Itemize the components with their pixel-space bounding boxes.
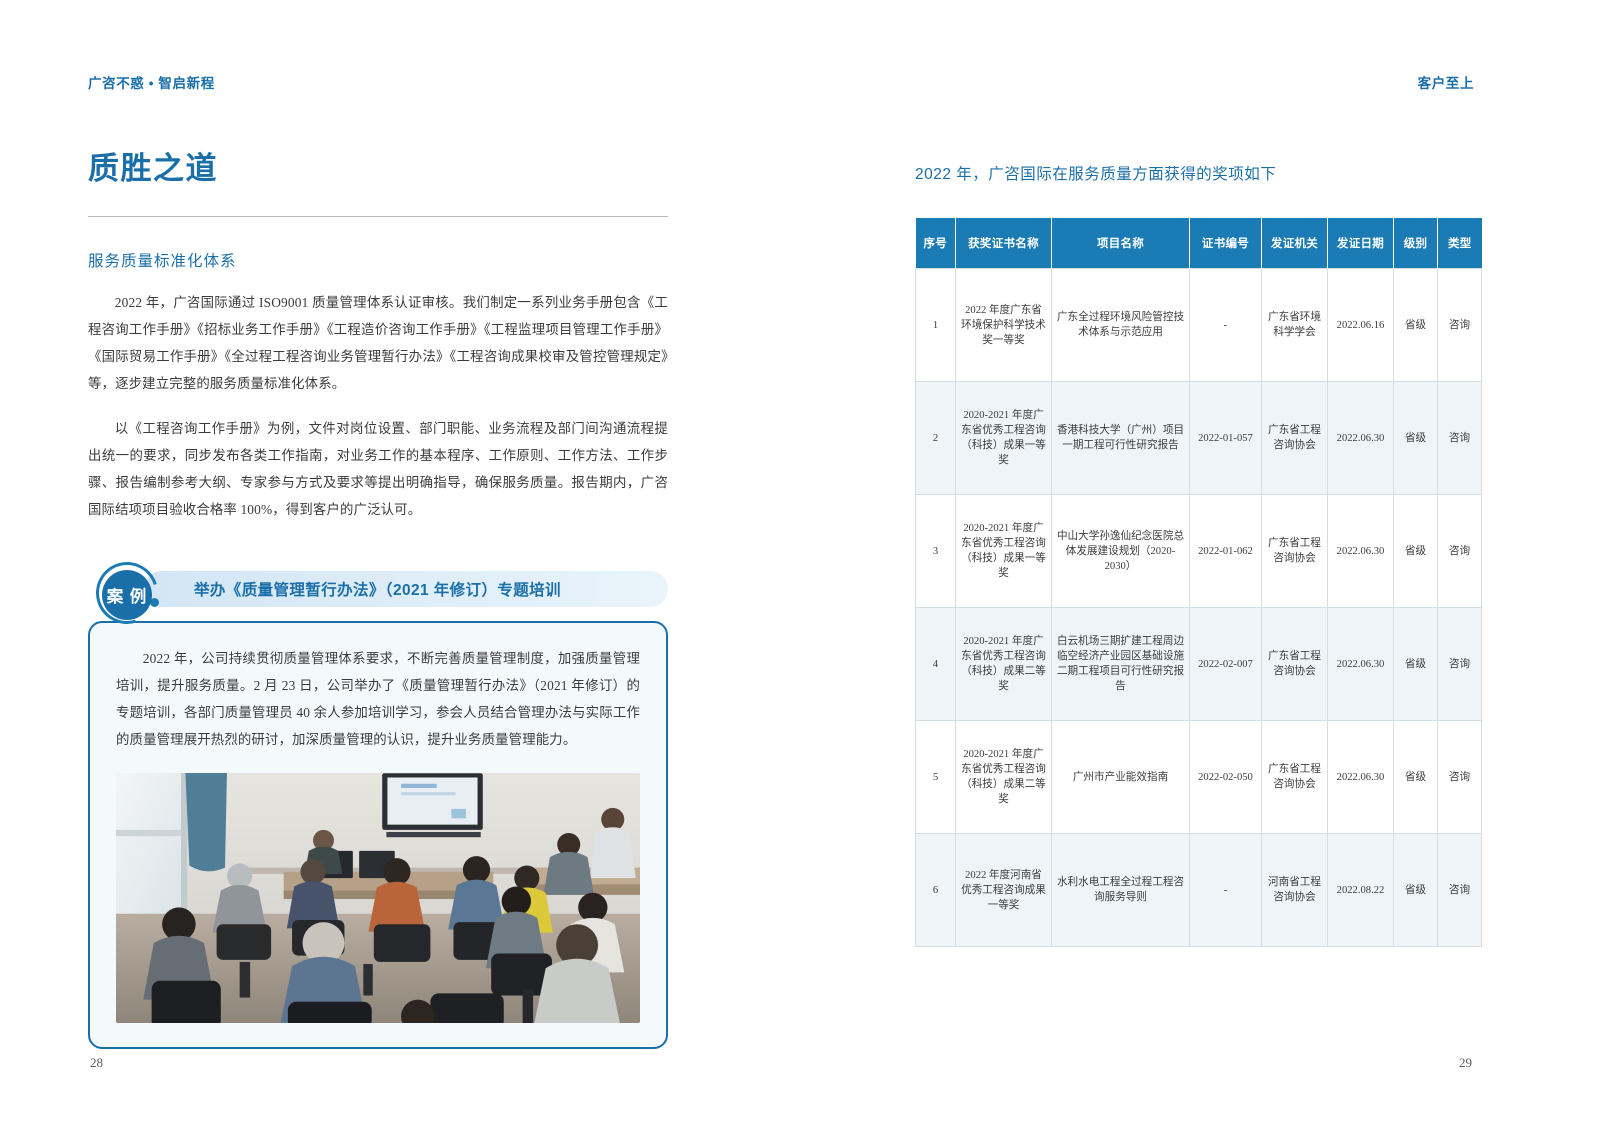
cell-date: 2022.06.16	[1328, 269, 1394, 382]
column-header-date: 发证日期	[1328, 218, 1394, 269]
case-photo	[116, 773, 640, 1023]
cell-type: 咨询	[1438, 608, 1482, 721]
body-paragraph-1: 2022 年，广咨国际通过 ISO9001 质量管理体系认证审核。我们制定一系列…	[88, 289, 668, 397]
cell-number: 2022-02-050	[1190, 721, 1262, 834]
case-badge: 案 例	[102, 570, 152, 620]
column-header-cert: 获奖证书名称	[956, 218, 1052, 269]
table-row: 52020-2021 年度广东省优秀工程咨询（科技）成果二等奖广州市产业能效指南…	[916, 721, 1482, 834]
cell-project: 水利水电工程全过程工程咨询服务导则	[1052, 834, 1190, 947]
case-body-paragraph: 2022 年，公司持续贯彻质量管理体系要求，不断完善质量管理制度，加强质量管理培…	[116, 645, 640, 753]
section-heading: 服务质量标准化体系	[88, 249, 668, 271]
cell-date: 2022.08.22	[1328, 834, 1394, 947]
awards-table: 序号 获奖证书名称 项目名称 证书编号 发证机关 发证日期 级别 类型 1202…	[915, 218, 1482, 947]
column-header-no: 序号	[916, 218, 956, 269]
cell-level: 省级	[1394, 834, 1438, 947]
cell-no: 6	[916, 834, 956, 947]
cell-project: 白云机场三期扩建工程周边临空经济产业园区基础设施二期工程项目可行性研究报告	[1052, 608, 1190, 721]
column-header-number: 证书编号	[1190, 218, 1262, 269]
cell-number: 2022-01-057	[1190, 382, 1262, 495]
cell-no: 3	[916, 495, 956, 608]
cell-level: 省级	[1394, 495, 1438, 608]
title-divider	[88, 216, 668, 217]
cell-level: 省级	[1394, 721, 1438, 834]
cell-number: -	[1190, 834, 1262, 947]
cell-cert: 2020-2021 年度广东省优秀工程咨询（科技）成果二等奖	[956, 721, 1052, 834]
cell-project: 香港科技大学（广州）项目一期工程可行性研究报告	[1052, 382, 1190, 495]
column-header-type: 类型	[1438, 218, 1482, 269]
cell-date: 2022.06.30	[1328, 721, 1394, 834]
cell-cert: 2022 年度河南省优秀工程咨询成果一等奖	[956, 834, 1052, 947]
cell-level: 省级	[1394, 269, 1438, 382]
running-head-left: 广咨不惑 • 智启新程	[88, 72, 215, 92]
cell-date: 2022.06.30	[1328, 382, 1394, 495]
body-paragraph-2: 以《工程咨询工作手册》为例，文件对岗位设置、部门职能、业务流程及部门间沟通流程提…	[88, 415, 668, 523]
page-number-left: 28	[90, 1055, 103, 1071]
left-page-content: 质胜之道 服务质量标准化体系 2022 年，广咨国际通过 ISO9001 质量管…	[88, 150, 668, 1049]
cell-type: 咨询	[1438, 382, 1482, 495]
column-header-level: 级别	[1394, 218, 1438, 269]
table-row: 32020-2021 年度广东省优秀工程咨询（科技）成果一等奖中山大学孙逸仙纪念…	[916, 495, 1482, 608]
cell-org: 河南省工程咨询协会	[1262, 834, 1328, 947]
cell-project: 广州市产业能效指南	[1052, 721, 1190, 834]
cell-project: 中山大学孙逸仙纪念医院总体发展建设规划（2020-2030）	[1052, 495, 1190, 608]
table-row: 22020-2021 年度广东省优秀工程咨询（科技）成果一等奖香港科技大学（广州…	[916, 382, 1482, 495]
document-spread: 广咨不惑 • 智启新程 客户至上 质胜之道 服务质量标准化体系 2022 年，广…	[0, 0, 1600, 1131]
cell-type: 咨询	[1438, 721, 1482, 834]
cell-level: 省级	[1394, 608, 1438, 721]
column-header-org: 发证机关	[1262, 218, 1328, 269]
case-title: 举办《质量管理暂行办法》（2021 年修订）专题培训	[194, 578, 561, 600]
table-row: 62022 年度河南省优秀工程咨询成果一等奖水利水电工程全过程工程咨询服务导则-…	[916, 834, 1482, 947]
case-banner: 案 例 举办《质量管理暂行办法》（2021 年修订）专题培训	[88, 567, 668, 611]
cell-number: 2022-01-062	[1190, 495, 1262, 608]
awards-table-body: 12022 年度广东省环境保护科学技术奖一等奖广东全过程环境风险管控技术体系与示…	[916, 269, 1482, 947]
cell-no: 4	[916, 608, 956, 721]
cell-cert: 2020-2021 年度广东省优秀工程咨询（科技）成果二等奖	[956, 608, 1052, 721]
cell-date: 2022.06.30	[1328, 495, 1394, 608]
right-page-content: 2022 年，广咨国际在服务质量方面获得的奖项如下 序号 获奖证书名称 项目名称…	[915, 162, 1481, 947]
cell-project: 广东全过程环境风险管控技术体系与示范应用	[1052, 269, 1190, 382]
cell-org: 广东省工程咨询协会	[1262, 721, 1328, 834]
cell-org: 广东省环境科学学会	[1262, 269, 1328, 382]
cell-number: -	[1190, 269, 1262, 382]
cell-no: 2	[916, 382, 956, 495]
page-number-right: 29	[1459, 1055, 1472, 1071]
column-header-project: 项目名称	[1052, 218, 1190, 269]
cell-cert: 2022 年度广东省环境保护科学技术奖一等奖	[956, 269, 1052, 382]
cell-org: 广东省工程咨询协会	[1262, 608, 1328, 721]
cell-cert: 2020-2021 年度广东省优秀工程咨询（科技）成果一等奖	[956, 382, 1052, 495]
cell-org: 广东省工程咨询协会	[1262, 382, 1328, 495]
cell-no: 1	[916, 269, 956, 382]
cell-number: 2022-02-007	[1190, 608, 1262, 721]
cell-no: 5	[916, 721, 956, 834]
cell-date: 2022.06.30	[1328, 608, 1394, 721]
cell-org: 广东省工程咨询协会	[1262, 495, 1328, 608]
table-row: 42020-2021 年度广东省优秀工程咨询（科技）成果二等奖白云机场三期扩建工…	[916, 608, 1482, 721]
table-caption: 2022 年，广咨国际在服务质量方面获得的奖项如下	[915, 162, 1481, 184]
running-head-right: 客户至上	[1418, 72, 1474, 92]
cell-type: 咨询	[1438, 834, 1482, 947]
cell-type: 咨询	[1438, 269, 1482, 382]
cell-type: 咨询	[1438, 495, 1482, 608]
cell-cert: 2020-2021 年度广东省优秀工程咨询（科技）成果一等奖	[956, 495, 1052, 608]
table-header-row: 序号 获奖证书名称 项目名称 证书编号 发证机关 发证日期 级别 类型	[916, 218, 1482, 269]
page-title: 质胜之道	[88, 150, 668, 187]
table-row: 12022 年度广东省环境保护科学技术奖一等奖广东全过程环境风险管控技术体系与示…	[916, 269, 1482, 382]
cell-level: 省级	[1394, 382, 1438, 495]
case-study-box: 2022 年，公司持续贯彻质量管理体系要求，不断完善质量管理制度，加强质量管理培…	[88, 621, 668, 1049]
